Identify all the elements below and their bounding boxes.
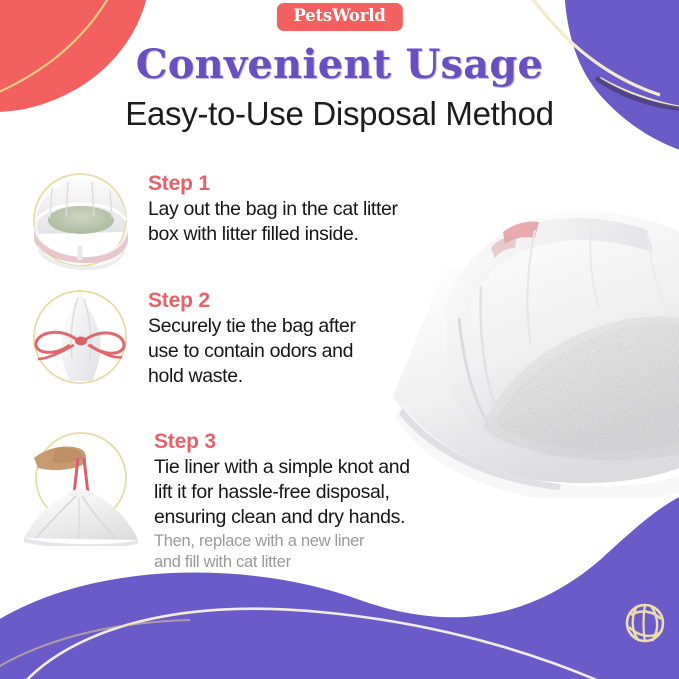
page-subtitle: Easy-to-Use Disposal Method	[0, 96, 679, 132]
ribbon-knot	[75, 337, 87, 346]
step-3-body: Step 3 Tie liner with a simple knot and …	[154, 418, 410, 573]
step-3-text: Tie liner with a simple knot and lift it…	[154, 455, 410, 530]
brand-name: PetsWorld	[293, 8, 385, 25]
step-item-3: Step 3 Tie liner with a simple knot and …	[16, 418, 410, 573]
product-photo	[385, 208, 679, 498]
step-2-label: Step 2	[148, 289, 356, 312]
litter-surface	[48, 206, 114, 234]
step-item-1: Step 1 Lay out the bag in the cat litter…	[20, 166, 398, 274]
step-1-text: Lay out the bag in the cat litter box wi…	[148, 197, 398, 247]
hand-lifting-tied-bag-thumbnail	[16, 418, 146, 546]
step-1-body: Step 1 Lay out the bag in the cat litter…	[148, 166, 398, 247]
infographic-canvas: PetsWorld Convenient Usage Easy-to-Use D…	[0, 0, 679, 679]
step-3-note: Then, replace with a new liner and fill …	[154, 531, 410, 573]
litter-box-with-liner-thumbnail	[20, 166, 140, 274]
step-2-text: Securely tie the bag after use to contai…	[148, 314, 356, 389]
step-item-2: Step 2 Securely tie the bag after use to…	[20, 283, 356, 391]
step-1-label: Step 1	[148, 172, 398, 195]
drawstring-knot	[77, 246, 83, 260]
tied-bag-with-bow-thumbnail	[20, 283, 140, 391]
step-3-label: Step 3	[154, 430, 410, 453]
yarn-ball-icon	[619, 597, 671, 649]
brand-badge: PetsWorld	[276, 3, 402, 31]
step-2-body: Step 2 Securely tie the bag after use to…	[148, 283, 356, 389]
page-title: Convenient Usage	[0, 44, 679, 86]
